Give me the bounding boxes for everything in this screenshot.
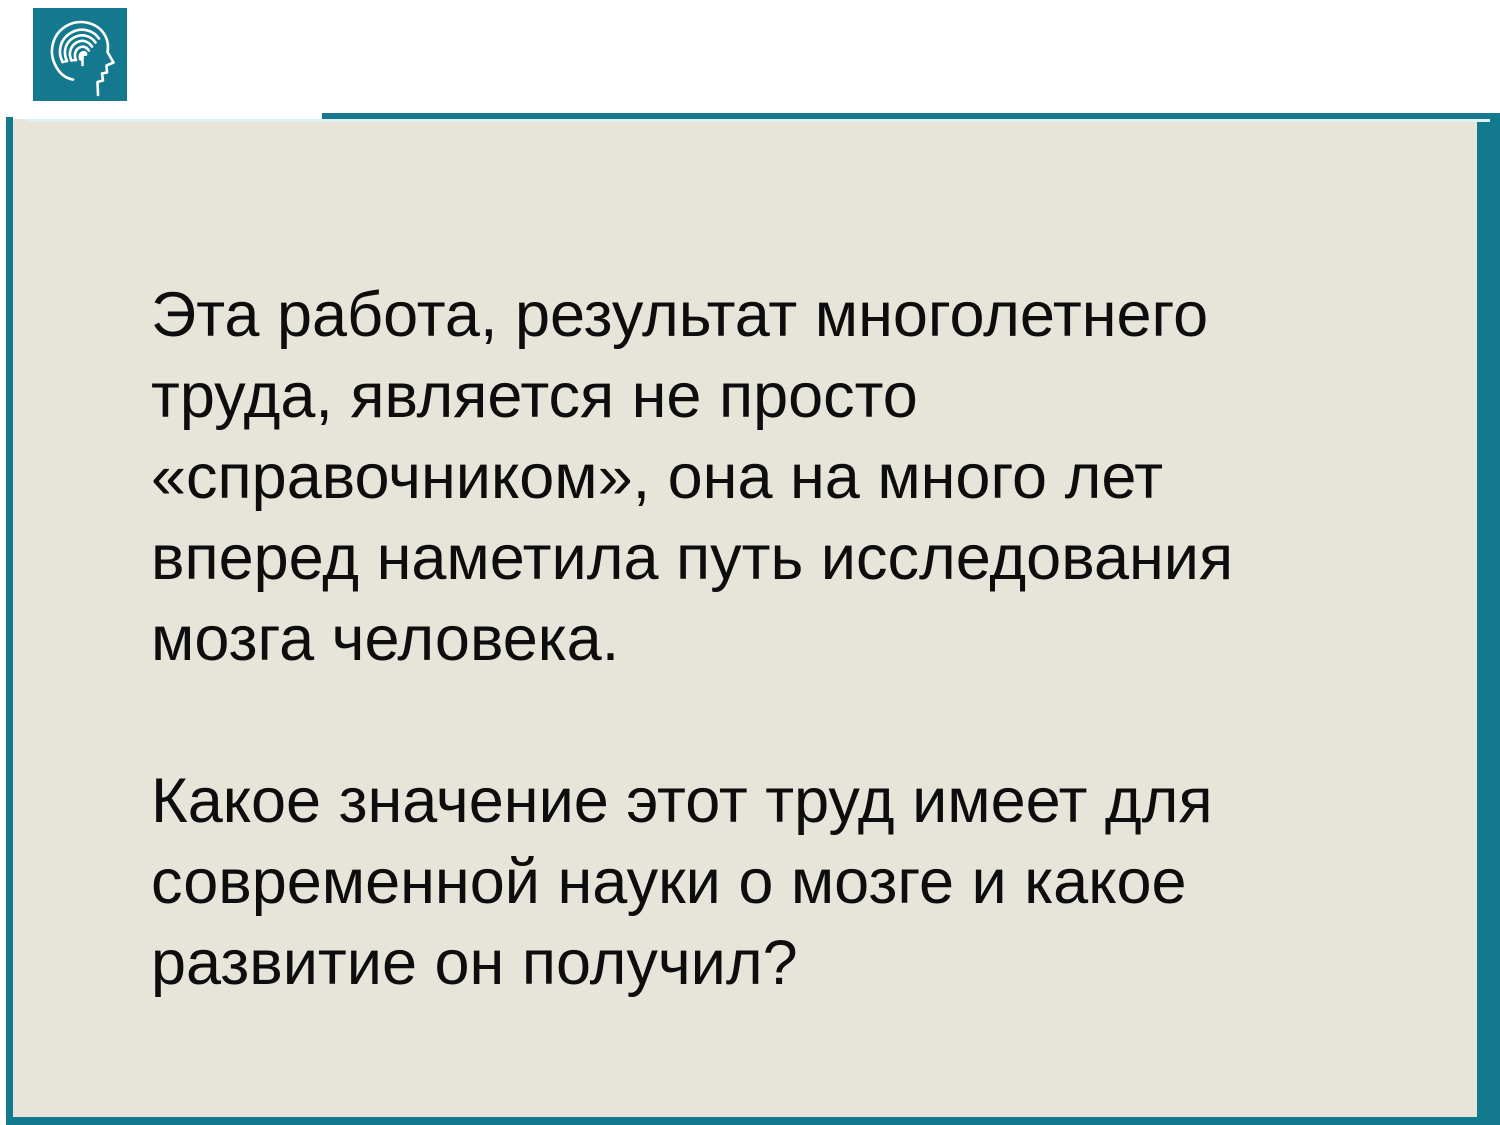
panel-border-left: [6, 117, 13, 1118]
panel-border-right: [1477, 117, 1500, 1125]
slide-root: Эта работа, результат многолетнего труда…: [0, 0, 1500, 1125]
panel-top-highlight: [26, 119, 1490, 122]
content-panel: Эта работа, результат многолетнего труда…: [13, 119, 1477, 1117]
brain-labyrinth-head-icon: [33, 8, 127, 101]
paragraph-question: Какое значение этот труд имеет для совре…: [151, 761, 1331, 1004]
paragraph-statement: Эта работа, результат многолетнего труда…: [151, 275, 1331, 680]
slide-body-text: Эта работа, результат многолетнего труда…: [151, 275, 1331, 1004]
brain-labyrinth-head-logo: [33, 8, 127, 101]
panel-border-bottom: [6, 1117, 1500, 1125]
content-panel-wrapper: Эта работа, результат многолетнего труда…: [0, 117, 1500, 1125]
